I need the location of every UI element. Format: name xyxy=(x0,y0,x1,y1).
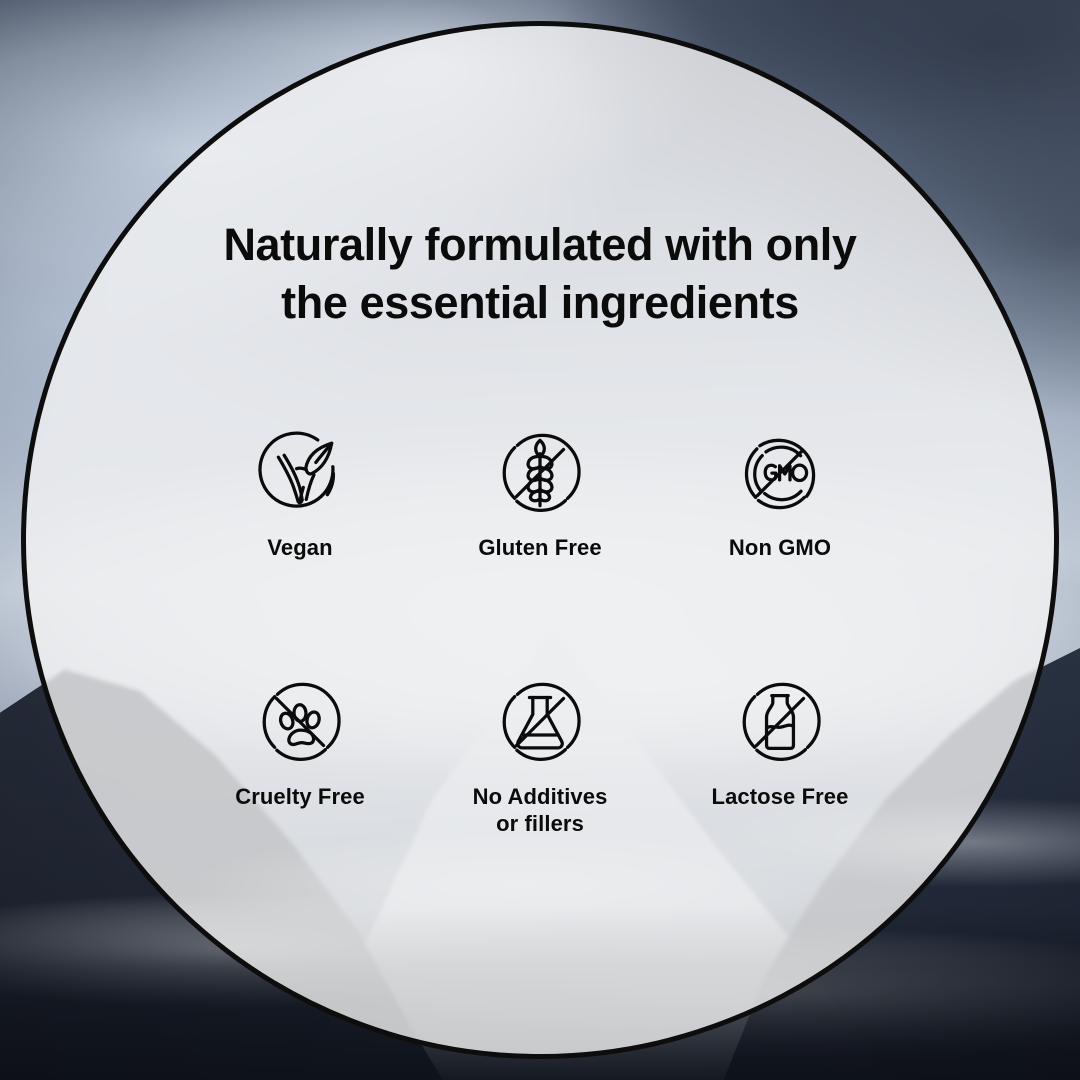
headline-line-1: Naturally formulated with only xyxy=(160,216,920,274)
claim-item-non-gmo: Non GMO xyxy=(673,425,888,562)
claim-item-cruelty-free: Cruelty Free xyxy=(193,674,408,838)
claim-label: Gluten Free xyxy=(478,535,601,562)
claim-item-lactose-free: Lactose Free xyxy=(673,674,888,838)
non-gmo-icon xyxy=(732,425,828,521)
claim-item-vegan: Vegan xyxy=(193,425,408,562)
vegan-leaf-icon xyxy=(252,425,348,521)
no-animal-paw-icon xyxy=(252,674,348,770)
no-additives-flask-icon xyxy=(492,674,588,770)
claim-item-no-additives: No Additives or fillers xyxy=(433,674,648,838)
badge-graphic: Naturally formulated with only the essen… xyxy=(0,0,1080,1080)
no-lactose-bottle-icon xyxy=(732,674,828,770)
claim-label: Non GMO xyxy=(729,535,831,562)
claim-label: No Additives or fillers xyxy=(473,784,608,838)
badge-circle: Naturally formulated with only the essen… xyxy=(21,21,1059,1059)
page-title: Naturally formulated with only the essen… xyxy=(160,216,920,331)
claims-grid: Vegan xyxy=(180,425,900,837)
claim-label: Cruelty Free xyxy=(235,784,365,811)
claim-label: Lactose Free xyxy=(712,784,849,811)
claim-label: Vegan xyxy=(267,535,332,562)
no-gluten-wheat-icon xyxy=(492,425,588,521)
headline-line-2: the essential ingredients xyxy=(160,274,920,332)
claim-item-gluten-free: Gluten Free xyxy=(433,425,648,562)
